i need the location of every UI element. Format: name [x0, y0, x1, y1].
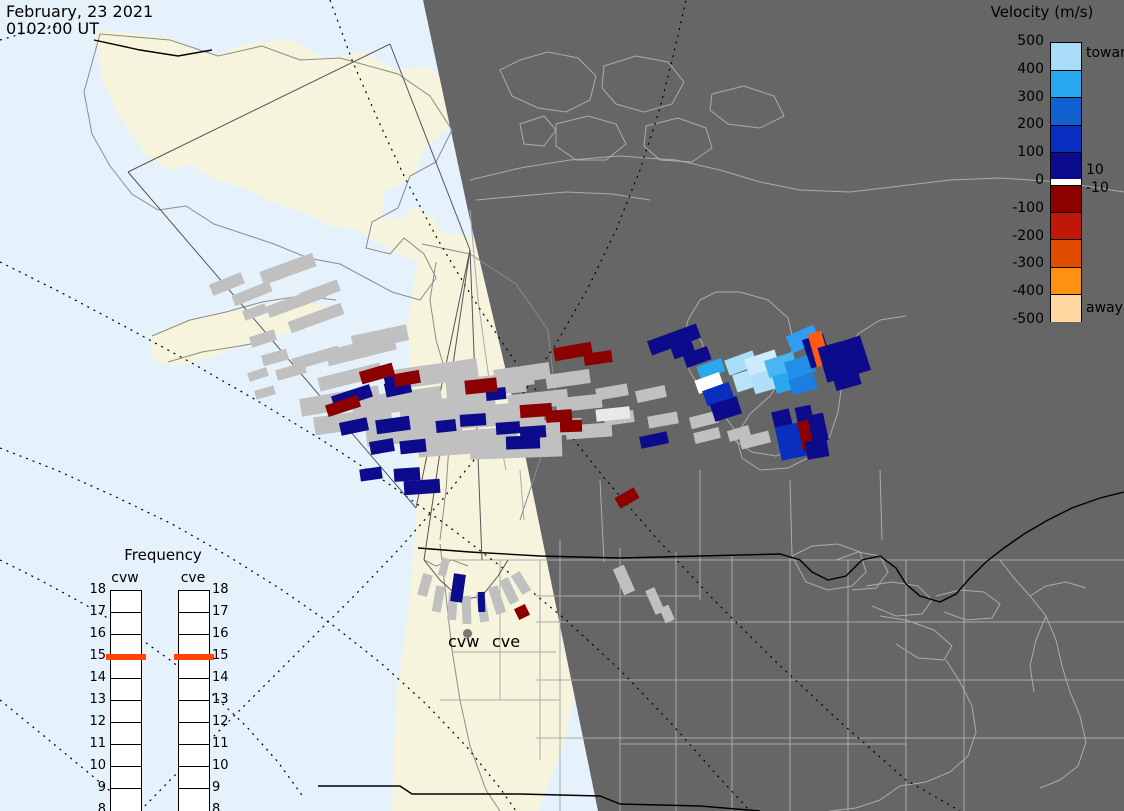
colorbar-tick: -400 [998, 283, 1044, 299]
frequency-scale-segment [179, 701, 209, 723]
frequency-bar-cve [178, 590, 210, 811]
frequency-tick-label: 11 [212, 736, 236, 751]
frequency-tick-label: 15 [212, 648, 236, 663]
frequency-radar-name-cvw: cvw [102, 570, 148, 586]
frequency-tick-label: 13 [212, 692, 236, 707]
frequency-tick-label: 18 [212, 582, 236, 597]
velocity-cell [399, 439, 426, 455]
colorbar-tick: 100 [998, 144, 1044, 160]
frequency-scale-segment [179, 745, 209, 767]
colorbar-band [1051, 125, 1081, 153]
frequency-tick-label: 12 [212, 714, 236, 729]
frequency-tick-label: 17 [82, 604, 106, 619]
colorbar-band [1051, 43, 1081, 70]
colorbar-tick: 500 [998, 33, 1044, 49]
frequency-scale-segment [111, 789, 141, 811]
colorbar-away-label: away [1086, 300, 1123, 316]
frequency-radar-name-cve: cve [170, 570, 216, 586]
frequency-tick-label: 16 [82, 626, 106, 641]
frequency-legend-title: Frequency [88, 546, 238, 564]
frequency-legend: Frequency cvw cve 1818171716161515141413… [88, 546, 248, 786]
frequency-scale-segment [111, 679, 141, 701]
frequency-scale-segment [111, 613, 141, 635]
colorbar-tick: 400 [998, 61, 1044, 77]
frequency-tick-label: 9 [212, 780, 236, 795]
fan-plot-canvas: cvw cve February, 23 2021 0102:00 UT Vel… [0, 0, 1124, 811]
frequency-scale-segment [179, 767, 209, 789]
colorbar-tick: -200 [998, 228, 1044, 244]
colorbar-band [1051, 185, 1081, 213]
frequency-tick-label: 12 [82, 714, 106, 729]
colorbar-title: Velocity (m/s) [968, 3, 1116, 21]
frequency-scale-segment [179, 723, 209, 745]
colorbar-tick: -500 [998, 311, 1044, 327]
colorbar-gradient [1050, 42, 1082, 322]
velocity-cell [435, 419, 456, 433]
frequency-tick-label: 8 [82, 802, 106, 811]
velocity-cell [478, 592, 486, 612]
frequency-value-marker [106, 654, 146, 660]
frequency-scale-segment [179, 591, 209, 613]
colorbar-tick: 0 [998, 172, 1044, 188]
colorbar-band [1051, 97, 1081, 125]
frequency-scale-segment [111, 767, 141, 789]
frequency-scale-segment [111, 657, 141, 679]
colorbar-band [1051, 212, 1081, 240]
frequency-tick-label: 18 [82, 582, 106, 597]
frequency-scale-segment [179, 789, 209, 811]
frequency-tick-label: 14 [212, 670, 236, 685]
frequency-tick-label: 16 [212, 626, 236, 641]
velocity-cell [404, 479, 441, 495]
ground-scatter-cell [462, 596, 472, 624]
frequency-tick-label: 14 [82, 670, 106, 685]
frequency-tick-label: 13 [82, 692, 106, 707]
frequency-scale-segment [179, 657, 209, 679]
colorbar-inner-negative-label: -10 [1086, 180, 1109, 196]
frequency-tick-label: 17 [212, 604, 236, 619]
frequency-value-marker [174, 654, 214, 660]
colorbar-inner-positive-label: 10 [1086, 162, 1104, 178]
frequency-tick-label: 15 [82, 648, 106, 663]
frequency-scale-segment [111, 745, 141, 767]
plot-time-label: 0102:00 UT [6, 19, 99, 38]
colorbar-tick: 300 [998, 89, 1044, 105]
site-label-cve: cve [492, 632, 520, 651]
velocity-colorbar: Velocity (m/s) 5004003002001000-100-200-… [968, 0, 1124, 340]
velocity-cell [460, 413, 487, 427]
velocity-cell [520, 425, 547, 439]
colorbar-tick: -100 [998, 200, 1044, 216]
colorbar-band [1051, 294, 1081, 322]
colorbar-band [1051, 70, 1081, 98]
frequency-bar-cvw [110, 590, 142, 811]
colorbar-tick: -300 [998, 255, 1044, 271]
frequency-tick-label: 10 [82, 758, 106, 773]
frequency-tick-label: 10 [212, 758, 236, 773]
frequency-scale-segment [111, 701, 141, 723]
velocity-cell [805, 438, 830, 460]
frequency-scale-segment [179, 613, 209, 635]
colorbar-toward-label: toward [1086, 45, 1124, 61]
frequency-scale-segment [111, 591, 141, 613]
colorbar-tick: 200 [998, 116, 1044, 132]
velocity-cell [496, 421, 521, 435]
frequency-tick-label: 9 [82, 780, 106, 795]
colorbar-band [1051, 152, 1081, 180]
colorbar-band [1051, 239, 1081, 267]
frequency-tick-label: 8 [212, 802, 236, 811]
frequency-tick-label: 11 [82, 736, 106, 751]
colorbar-band [1051, 267, 1081, 295]
frequency-scale-segment [111, 723, 141, 745]
site-label-cvw: cvw [448, 632, 479, 651]
frequency-scale-segment [179, 679, 209, 701]
velocity-cell [560, 420, 582, 433]
